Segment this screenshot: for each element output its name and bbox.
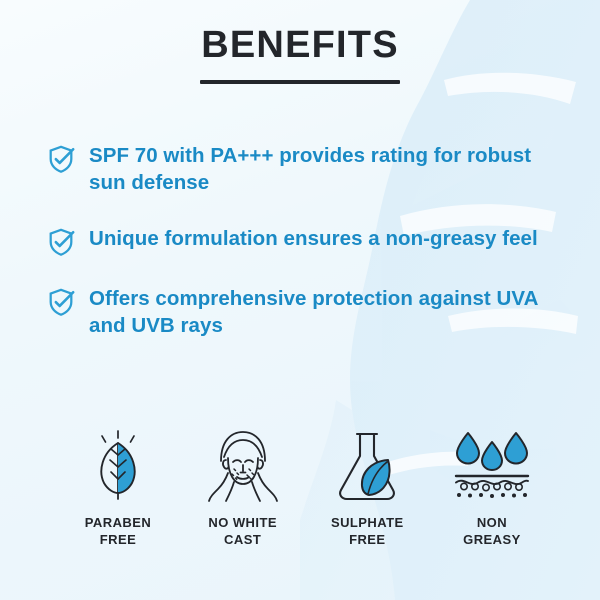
benefit-text: Offers comprehensive protection against … xyxy=(89,285,554,340)
feature-label: PARABEN FREE xyxy=(85,514,151,549)
header: BENEFITS xyxy=(0,26,600,84)
shield-check-icon xyxy=(46,227,76,257)
leaf-icon xyxy=(82,425,154,505)
shield-check-icon xyxy=(46,144,76,174)
feature-sulphate-free: SULPHATE FREE xyxy=(309,425,425,549)
feature-non-greasy: NON GREASY xyxy=(434,425,550,549)
droplets-skin-icon xyxy=(450,425,534,505)
face-icon xyxy=(204,425,282,505)
benefit-text: SPF 70 with PA+++ provides rating for ro… xyxy=(89,142,554,197)
feature-label: SULPHATE FREE xyxy=(331,514,404,549)
benefits-panel: BENEFITS SPF 70 with PA+++ provides rati… xyxy=(0,0,600,600)
feature-no-white-cast: NO WHITE CAST xyxy=(185,425,301,549)
title-underline xyxy=(200,80,400,84)
shield-check-icon xyxy=(46,287,76,317)
benefit-item: Unique formulation ensures a non-greasy … xyxy=(46,225,554,257)
feature-paraben-free: PARABEN FREE xyxy=(60,425,176,549)
benefits-list: SPF 70 with PA+++ provides rating for ro… xyxy=(46,142,554,367)
flask-leaf-icon xyxy=(329,425,405,505)
feature-label: NO WHITE CAST xyxy=(208,514,277,549)
benefit-item: SPF 70 with PA+++ provides rating for ro… xyxy=(46,142,554,197)
feature-label: NON GREASY xyxy=(463,514,521,549)
benefit-text: Unique formulation ensures a non-greasy … xyxy=(89,225,538,252)
page-title: BENEFITS xyxy=(0,26,600,64)
feature-badges: PARABEN FREE xyxy=(60,425,550,549)
benefit-item: Offers comprehensive protection against … xyxy=(46,285,554,340)
